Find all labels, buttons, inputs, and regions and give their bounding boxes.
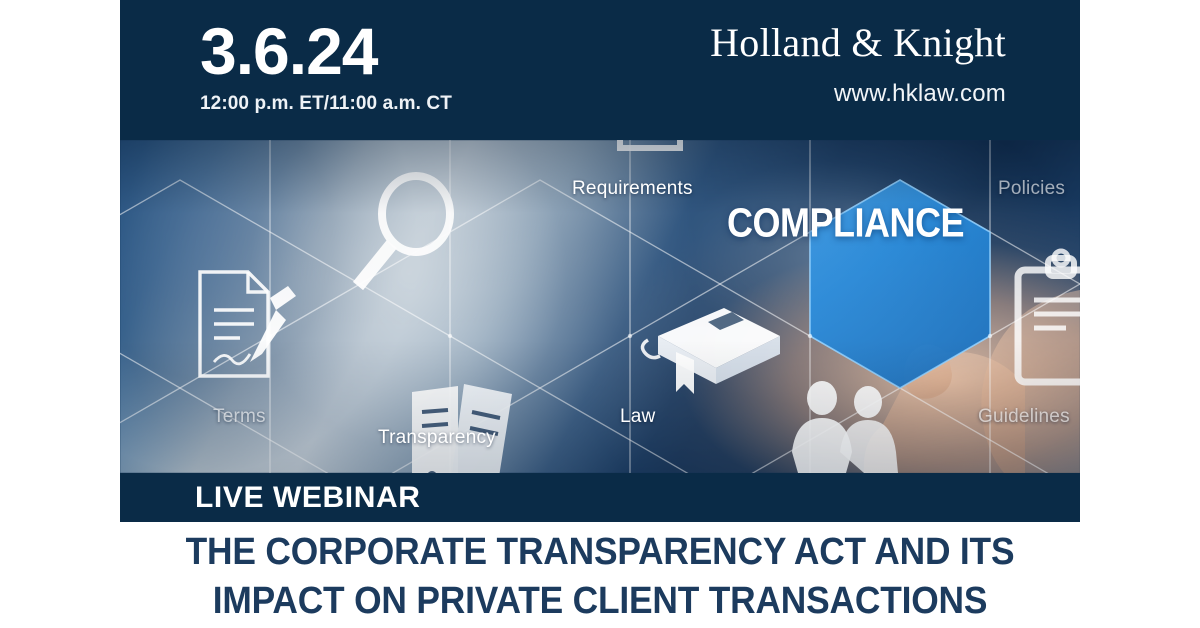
hex-label-transparency[interactable]: Transparency	[378, 427, 496, 449]
webinar-promo-card: 3.6.24 12:00 p.m. ET/11:00 a.m. CT Holla…	[0, 0, 1200, 628]
headline-line-1: THE CORPORATE TRANSPARENCY ACT AND ITS	[154, 528, 1047, 577]
hero-image: Terms Transparency Requirements COMPLIAN…	[120, 140, 1080, 473]
event-date: 3.6.24	[200, 18, 452, 84]
live-webinar-label: LIVE WEBINAR	[195, 481, 421, 515]
headline-line-2: IMPACT ON PRIVATE CLIENT TRANSACTIONS	[154, 577, 1047, 626]
firm-logo-wordmark: Holland & Knight	[710, 22, 1006, 64]
hex-label-law[interactable]: Law	[620, 406, 655, 428]
hex-label-compliance[interactable]: COMPLIANCE	[727, 199, 964, 246]
hex-label-terms[interactable]: Terms	[213, 406, 266, 428]
event-time: 12:00 p.m. ET/11:00 a.m. CT	[200, 93, 452, 115]
live-webinar-band: LIVE WEBINAR	[120, 473, 1080, 522]
hex-label-requirements[interactable]: Requirements	[572, 178, 693, 200]
page-title: THE CORPORATE TRANSPARENCY ACT AND ITS I…	[120, 528, 1080, 625]
firm-website-url[interactable]: www.hklaw.com	[710, 80, 1006, 108]
hex-label-guidelines[interactable]: Guidelines	[978, 406, 1070, 428]
header-bar: 3.6.24 12:00 p.m. ET/11:00 a.m. CT Holla…	[120, 0, 1080, 140]
hex-label-policies[interactable]: Policies	[998, 178, 1065, 200]
brand-block: Holland & Knight www.hklaw.com	[710, 22, 1006, 108]
event-date-block: 3.6.24 12:00 p.m. ET/11:00 a.m. CT	[200, 18, 452, 115]
